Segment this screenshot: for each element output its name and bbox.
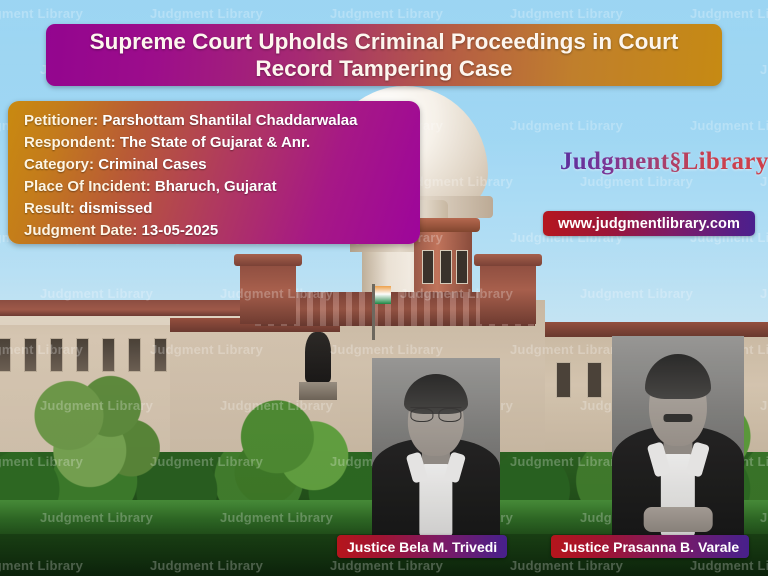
judge-photo-prasanna-b-varale xyxy=(612,336,744,540)
portrait-court-collar xyxy=(419,464,452,537)
court-tower-left xyxy=(240,262,296,324)
judge-photo-bela-m-trivedi xyxy=(372,358,500,540)
indian-flag xyxy=(375,286,391,304)
portrait xyxy=(612,336,744,540)
portrait-glasses xyxy=(410,407,461,420)
court-tower-right xyxy=(480,262,536,324)
detail-label: Petitioner: xyxy=(24,112,98,129)
judge-name-left: Justice Bela M. Trivedi xyxy=(347,539,497,555)
right-wing-roof xyxy=(540,322,768,337)
section-symbol-icon: § xyxy=(669,149,681,175)
detail-label: Place Of Incident: xyxy=(24,178,151,195)
detail-value: Criminal Cases xyxy=(98,156,206,173)
detail-value: 13-05-2025 xyxy=(142,222,219,239)
judge-name-badge-right: Justice Prasanna B. Varale xyxy=(551,535,749,558)
tree-center xyxy=(228,392,358,510)
detail-label: Category: xyxy=(24,156,94,173)
left-wing-roof xyxy=(0,300,240,316)
detail-row-place-of-incident: Place Of Incident: Bharuch, Gujarat xyxy=(24,176,420,198)
detail-value: Bharuch, Gujarat xyxy=(155,178,277,195)
website-url-badge[interactable]: www.judgmentlibrary.com xyxy=(543,211,755,236)
detail-label: Respondent: xyxy=(24,134,116,151)
detail-row-judgment-date: Judgment Date: 13-05-2025 xyxy=(24,220,420,242)
detail-row-result: Result: dismissed xyxy=(24,198,420,220)
detail-value: dismissed xyxy=(79,200,152,217)
tree-left xyxy=(30,370,160,500)
portrait-moustache xyxy=(663,414,692,422)
page-title: Supreme Court Upholds Criminal Proceedin… xyxy=(60,28,708,82)
detail-row-petitioner: Petitioner: Parshottam Shantilal Chaddar… xyxy=(24,110,420,132)
detail-row-respondent: Respondent: The State of Gujarat & Anr. xyxy=(24,132,420,154)
detail-label: Result: xyxy=(24,200,75,217)
portrait xyxy=(372,358,500,540)
detail-row-category: Category: Criminal Cases xyxy=(24,154,420,176)
title-banner: Supreme Court Upholds Criminal Proceedin… xyxy=(46,24,722,86)
detail-label: Judgment Date: xyxy=(24,222,137,239)
judge-name-right: Justice Prasanna B. Varale xyxy=(561,539,739,555)
portrait-hands xyxy=(644,507,713,531)
detail-value: The State of Gujarat & Anr. xyxy=(120,134,310,151)
website-url-text: www.judgmentlibrary.com xyxy=(558,216,740,232)
brand-logo: Judgment§Library xyxy=(560,148,768,176)
case-details-panel: Petitioner: Parshottam Shantilal Chaddar… xyxy=(8,101,420,244)
detail-value: Parshottam Shantilal Chaddarwalaa xyxy=(102,112,357,129)
judge-name-badge-left: Justice Bela M. Trivedi xyxy=(337,535,507,558)
brand-word-right: Library xyxy=(682,148,768,175)
gandhi-statue xyxy=(305,332,331,382)
brand-word-left: Judgment xyxy=(560,148,669,175)
